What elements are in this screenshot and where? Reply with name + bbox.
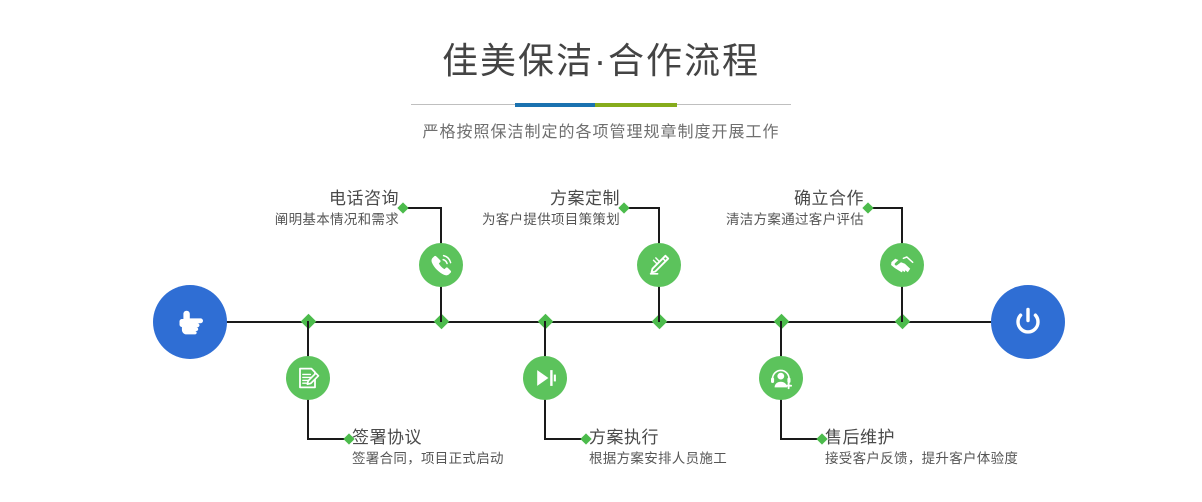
phone-call-icon [428,252,454,278]
step-node-establish-cooperation[interactable] [880,243,924,287]
timeline-axis [224,321,994,323]
step-node-after-sales[interactable] [759,356,803,400]
flow-start-endpoint[interactable] [153,285,227,359]
label-marker-top-2 [618,202,629,213]
step-desc: 阐明基本情况和需求 [150,210,399,230]
play-execute-icon [532,365,558,391]
handshake-icon [889,252,915,278]
step-title: 方案定制 [380,188,620,210]
process-flow: 电话咨询 阐明基本情况和需求 方案定制 为客户提供项目策策划 [0,0,1202,502]
step-desc: 签署合同，项目正式启动 [352,449,612,469]
step-label-plan-execution: 方案执行 根据方案安排人员施工 [589,427,839,469]
step-desc: 根据方案安排人员施工 [589,449,839,469]
step-desc: 接受客户反馈，提升客户体验度 [825,449,1115,469]
step-node-sign-agreement[interactable] [286,356,330,400]
step-node-plan-execution[interactable] [523,356,567,400]
flow-end-endpoint[interactable] [991,285,1065,359]
customer-support-icon [768,365,794,391]
step-title: 电话咨询 [150,188,399,210]
step-label-plan-custom: 方案定制 为客户提供项目策策划 [380,188,620,230]
step-desc: 为客户提供项目策策划 [380,210,620,230]
step-label-sign-agreement: 签署协议 签署合同，项目正式启动 [352,427,612,469]
step-title: 售后维护 [825,427,1115,449]
label-marker-top-3 [862,202,873,213]
step-node-phone-consult[interactable] [419,243,463,287]
step-label-establish-cooperation: 确立合作 清洁方案通过客户评估 [630,188,864,230]
connector-horizontal-top-3 [869,207,903,209]
step-desc: 清洁方案通过客户评估 [630,210,864,230]
power-icon [1008,302,1048,342]
pencil-edit-icon [646,252,672,278]
step-node-plan-custom[interactable] [637,243,681,287]
hand-pointing-icon [170,302,210,342]
step-title: 确立合作 [630,188,864,210]
step-label-phone-consult: 电话咨询 阐明基本情况和需求 [150,188,399,230]
cooperation-process-infographic: 佳美保洁·合作流程 严格按照保洁制定的各项管理规章制度开展工作 [0,0,1202,502]
step-label-after-sales: 售后维护 接受客户反馈，提升客户体验度 [825,427,1115,469]
signed-document-icon [295,365,321,391]
